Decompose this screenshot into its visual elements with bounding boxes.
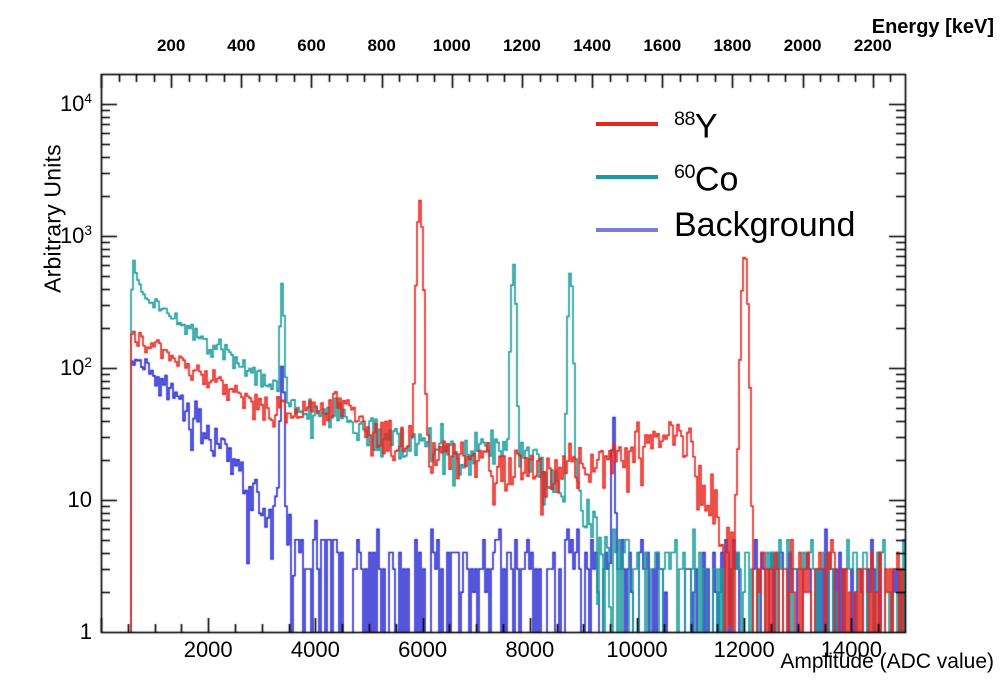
y-tick-label: 103 <box>10 223 92 249</box>
y-tick-label: 10 <box>10 487 92 513</box>
legend-label: 88Y <box>674 96 718 149</box>
x-axis-title: Amplitude (ADC value) <box>780 650 994 674</box>
legend-label: Background <box>674 202 855 248</box>
top-tick-label: 1400 <box>573 36 611 56</box>
y-tick-label: 104 <box>10 91 92 117</box>
y-tick-label: 102 <box>10 355 92 381</box>
top-tick-label: 1000 <box>433 36 471 56</box>
x-tick-label: 4000 <box>291 637 340 663</box>
top-tick-label: 600 <box>297 36 325 56</box>
y-tick-label: 1 <box>10 619 92 645</box>
x-tick-label: 2000 <box>184 637 233 663</box>
x-tick-label: 10000 <box>606 637 667 663</box>
top-tick-label: 1800 <box>714 36 752 56</box>
legend-color-swatch <box>596 122 658 126</box>
legend-entry: Background <box>596 202 906 255</box>
y-axis-title: Arbitrary Units <box>40 104 67 334</box>
x-tick-label: 12000 <box>714 637 775 663</box>
legend-entry: 88Y <box>596 96 906 149</box>
spectrum-figure: Arbitrary Units Amplitude (ADC value) En… <box>0 0 1000 700</box>
x-tick-label: 6000 <box>398 637 447 663</box>
legend-color-swatch <box>596 175 658 179</box>
top-tick-label: 200 <box>157 36 185 56</box>
top-tick-label: 2200 <box>854 36 892 56</box>
legend: 88Y60CoBackground <box>596 96 906 255</box>
x-tick-label: 14000 <box>821 637 882 663</box>
top-tick-label: 400 <box>227 36 255 56</box>
top-tick-label: 1600 <box>643 36 681 56</box>
legend-color-swatch <box>596 228 658 232</box>
top-tick-label: 800 <box>367 36 395 56</box>
x-tick-label: 8000 <box>505 637 554 663</box>
top-tick-label: 2000 <box>784 36 822 56</box>
legend-entry: 60Co <box>596 149 906 202</box>
top-tick-label: 1200 <box>503 36 541 56</box>
legend-label: 60Co <box>674 149 738 202</box>
